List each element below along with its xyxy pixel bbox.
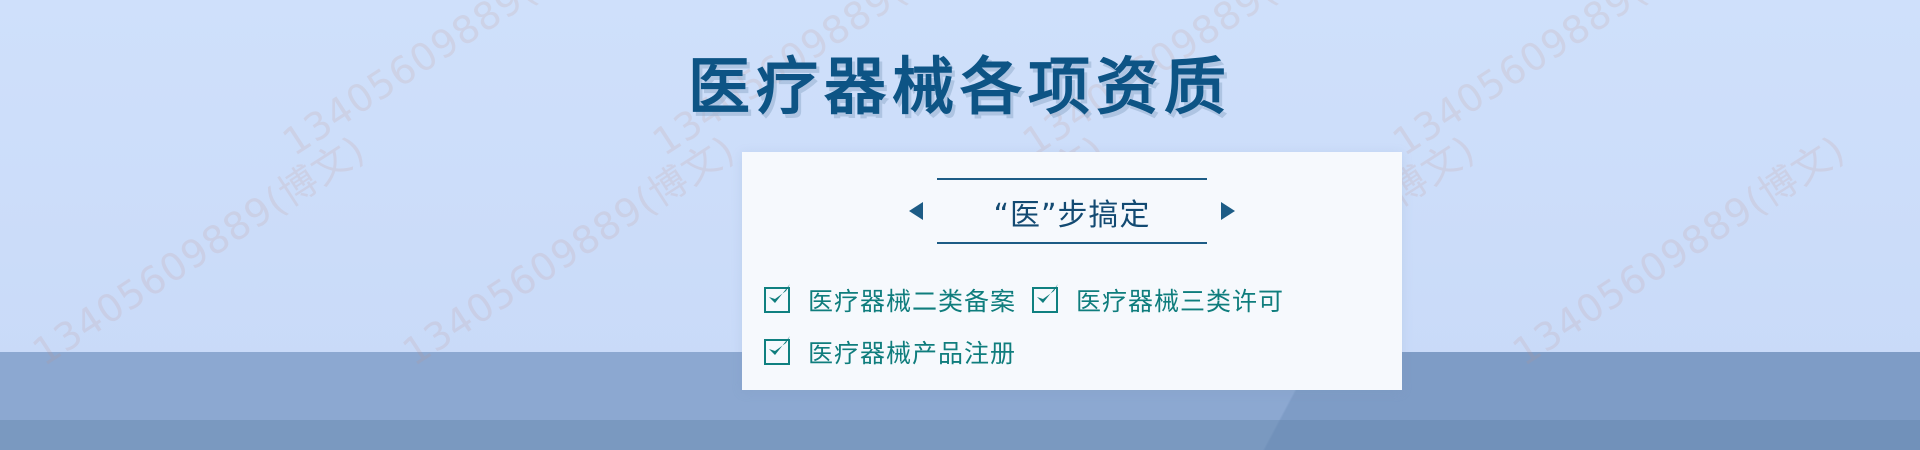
card-header-text: “医”步搞定 — [907, 190, 1237, 234]
checkmark-icon[interactable] — [1032, 287, 1058, 313]
checkmark-icon[interactable] — [764, 287, 790, 313]
checklist-row: 医疗器械二类备案 医疗器械三类许可 — [764, 274, 1384, 326]
promo-banner: 13405609889(博文) 13405609889(博文) 13405609… — [0, 0, 1920, 450]
qualification-checklist: 医疗器械二类备案 医疗器械三类许可 — [764, 274, 1384, 378]
header-rule-top — [937, 178, 1207, 180]
checklist-item-label: 医疗器械二类备案 — [808, 282, 1016, 318]
watermark-text: 13405609889(博文) — [20, 119, 374, 376]
checklist-row: 医疗器械产品注册 — [764, 326, 1384, 378]
content-card: “医”步搞定 医疗器械二类备案 — [742, 152, 1402, 390]
header-rule-bottom — [937, 242, 1207, 244]
card-header: “医”步搞定 — [907, 174, 1237, 246]
watermark-text: 13405609889(博文) — [390, 119, 744, 376]
checklist-item[interactable]: 医疗器械三类许可 — [1032, 282, 1284, 318]
checklist-item[interactable]: 医疗器械产品注册 — [764, 334, 1032, 370]
page-title: 医疗器械各项资质 — [0, 36, 1920, 126]
checklist-item[interactable]: 医疗器械二类备案 — [764, 282, 1032, 318]
watermark-text: 13405609889(博文) — [1500, 119, 1854, 376]
checklist-item-label: 医疗器械产品注册 — [808, 334, 1016, 370]
checklist-item-label: 医疗器械三类许可 — [1076, 282, 1284, 318]
checkmark-icon[interactable] — [764, 339, 790, 365]
